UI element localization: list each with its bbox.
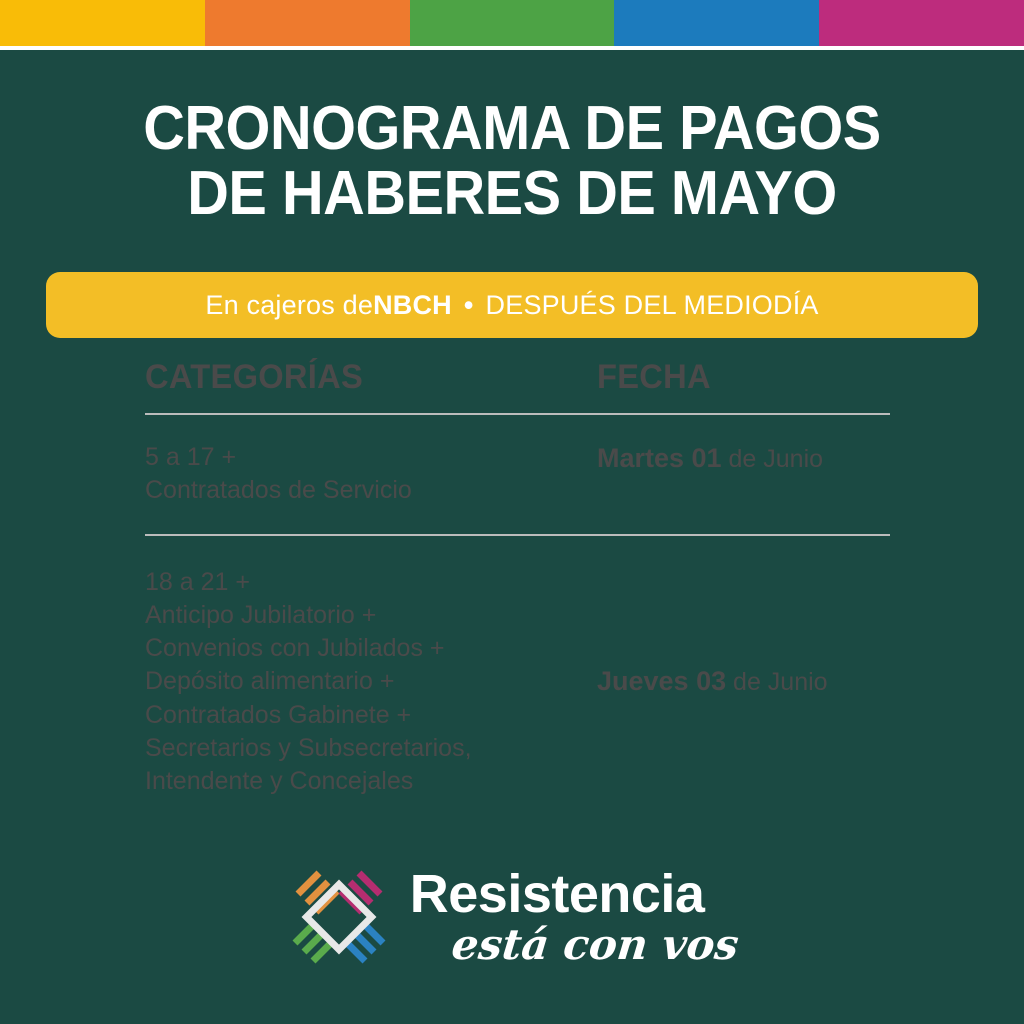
brand-name: Resistencia [410,867,705,921]
decorative-color-bar [0,0,1024,46]
banner-prefix-text: En cajeros de [205,290,373,321]
color-bar-underline [0,46,1024,50]
row-1-date-month: de Junio [722,445,823,473]
page-title-line-1: CRONOGRAMA DE PAGOS [143,94,881,163]
page-title-line-2: DE HABERES DE MAYO [36,161,988,226]
color-segment-yellow [0,0,205,46]
column-header-date: FECHA [597,358,878,413]
logo-wordmark: Resistencia está con vos [410,867,738,967]
row-1-categories: 5 a 17 + Contratados de Servicio [145,441,597,508]
row-1-date: Martes 01 de Junio [597,441,890,477]
payment-schedule-table: CATEGORÍAS FECHA 5 a 17 + Contratados de… [145,358,890,820]
color-segment-blue [614,0,819,46]
column-header-categories: CATEGORÍAS [145,358,579,413]
poster-canvas: CRONOGRAMA DE PAGOS DE HABERES DE MAYO E… [0,0,1024,1024]
row-2-date-month: de Junio [726,668,827,696]
color-segment-magenta [819,0,1024,46]
page-title: CRONOGRAMA DE PAGOS DE HABERES DE MAYO [36,96,988,226]
bank-notice-banner: En cajeros de NBCH•DESPUÉS DEL MEDIODÍA [46,272,978,338]
color-segment-orange [205,0,410,46]
footer-branding: Resistencia está con vos [0,864,1024,970]
resistencia-logo-icon [286,864,392,970]
row-1-date-weekday: Martes 01 [597,443,722,473]
banner-time-note: DESPUÉS DEL MEDIODÍA [486,290,819,321]
row-2-categories: 18 a 21 + Anticipo Jubilatorio + Conveni… [145,566,597,799]
banner-bank-name: NBCH [373,290,452,321]
table-row: 18 a 21 + Anticipo Jubilatorio + Conveni… [145,536,890,821]
row-2-date: Jueves 03 de Junio [597,664,890,700]
color-segment-green [410,0,615,46]
banner-separator-dot: • [452,290,486,321]
table-header-row: CATEGORÍAS FECHA [145,358,890,413]
table-row: 5 a 17 + Contratados de Servicio Martes … [145,415,890,534]
row-2-date-weekday: Jueves 03 [597,666,726,696]
brand-tagline: está con vos [449,923,740,967]
